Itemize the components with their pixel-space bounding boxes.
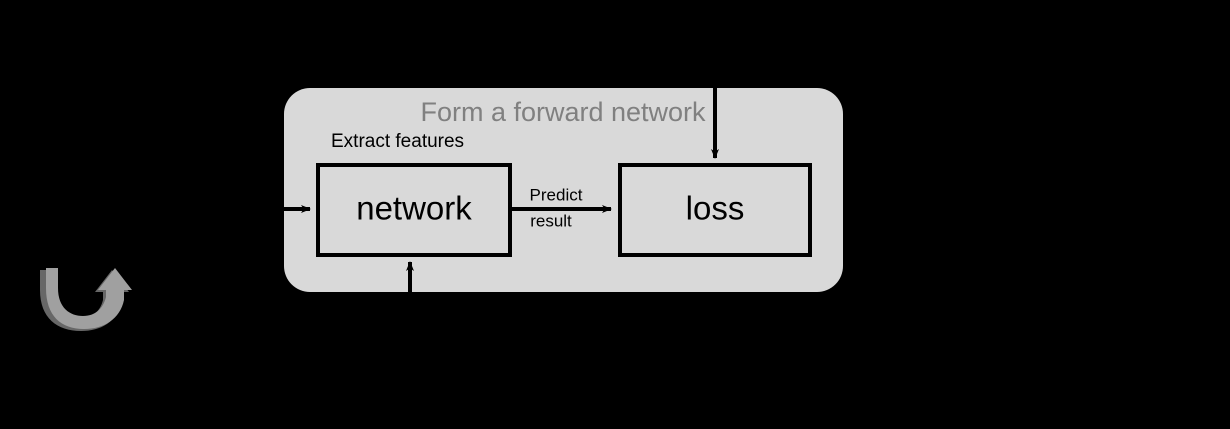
backward-loop-arrow <box>40 268 132 331</box>
network-node-label: network <box>356 190 472 227</box>
predict-result-label-line2: result <box>530 211 572 230</box>
diagram-svg: Form a forward network Extract features … <box>0 0 1230 429</box>
group-title: Form a forward network <box>420 97 706 127</box>
extract-features-label: Extract features <box>331 131 464 152</box>
loss-node-label: loss <box>686 190 745 227</box>
diagram-canvas: Form a forward network Extract features … <box>0 0 1230 429</box>
predict-result-label-line1: Predict <box>530 185 583 204</box>
